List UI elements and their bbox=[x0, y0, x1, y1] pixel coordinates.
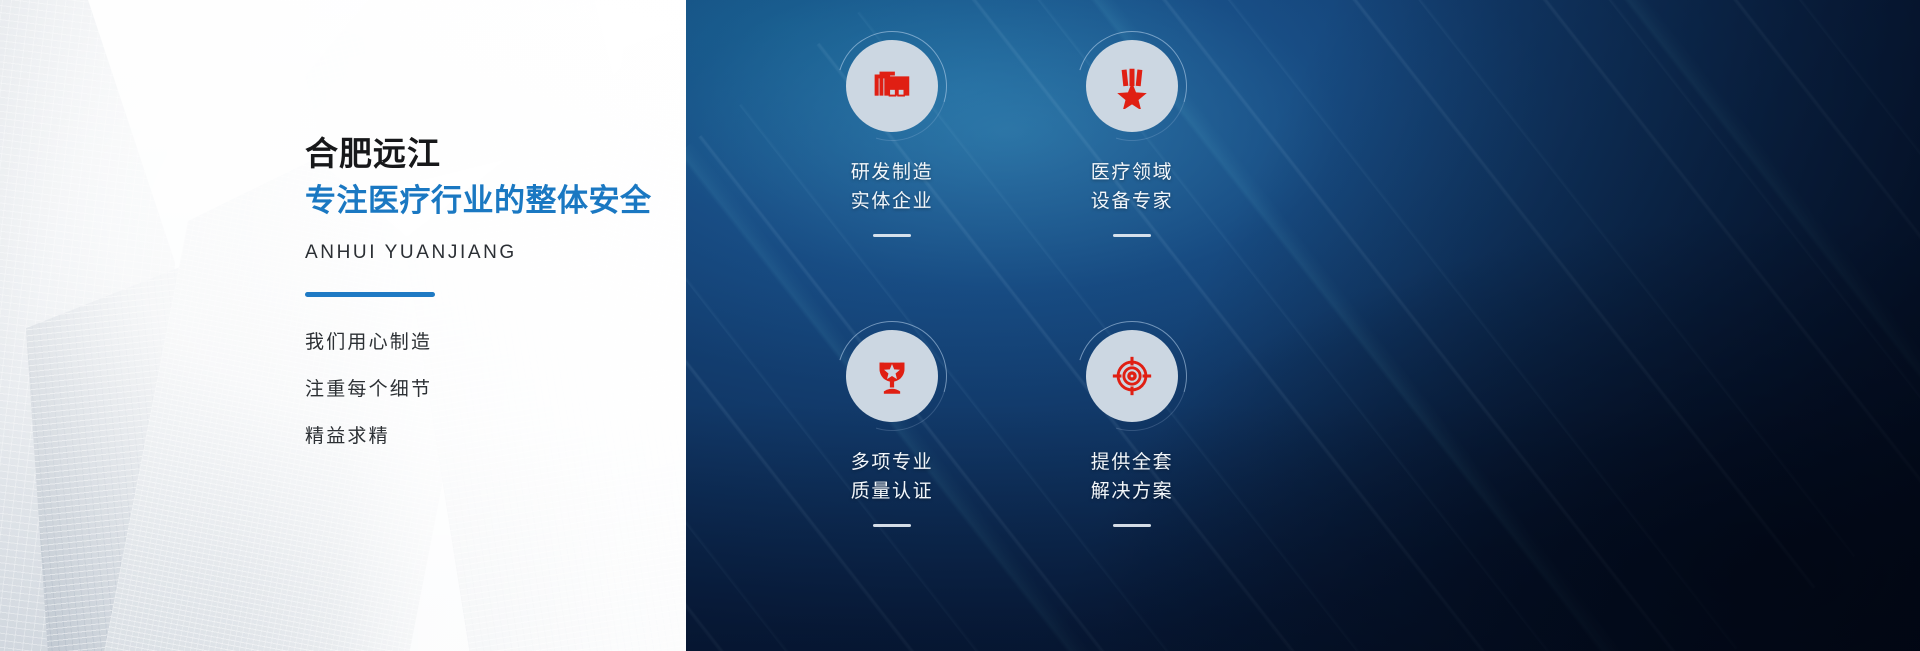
feature-item-full-solution[interactable]: 提供全套 解决方案 bbox=[1012, 320, 1252, 600]
feature-label-line1: 多项专业 bbox=[851, 448, 933, 477]
tagline-list: 我们用心制造 注重每个细节 精益求精 bbox=[305, 333, 685, 446]
factory-icon bbox=[869, 63, 915, 109]
feature-label-line2: 设备专家 bbox=[1091, 187, 1173, 216]
feature-grid: 研发制造 实体企业 bbox=[772, 40, 1252, 600]
feature-label: 多项专业 质量认证 bbox=[851, 448, 933, 507]
icon-badge bbox=[846, 40, 938, 132]
brand-pinyin: ANHUI YUANJIANG bbox=[305, 242, 685, 264]
trophy-icon bbox=[869, 353, 915, 399]
headline-block: 合肥远江 专注医疗行业的整体安全 ANHUI YUANJIANG 我们用心制造 … bbox=[305, 134, 685, 446]
feature-label-line1: 医疗领域 bbox=[1091, 158, 1173, 187]
icon-badge bbox=[846, 330, 938, 422]
right-panel: 研发制造 实体企业 bbox=[686, 0, 1920, 651]
promo-banner: 合肥远江 专注医疗行业的整体安全 ANHUI YUANJIANG 我们用心制造 … bbox=[0, 0, 1920, 651]
tagline-item: 精益求精 bbox=[305, 427, 685, 446]
feature-label: 提供全套 解决方案 bbox=[1091, 448, 1173, 507]
feature-underline-dash bbox=[873, 234, 911, 237]
medal-star-icon bbox=[1109, 63, 1155, 109]
feature-item-medical-equipment-expert[interactable]: 医疗领域 设备专家 bbox=[1012, 40, 1252, 320]
feature-label-line2: 质量认证 bbox=[851, 477, 933, 506]
feature-underline-dash bbox=[873, 524, 911, 527]
tagline-item: 我们用心制造 bbox=[305, 333, 685, 352]
feature-label: 医疗领域 设备专家 bbox=[1091, 158, 1173, 217]
feature-label-line1: 研发制造 bbox=[851, 158, 933, 187]
target-crosshair-icon bbox=[1109, 353, 1155, 399]
feature-label-line2: 解决方案 bbox=[1091, 477, 1173, 506]
feature-underline-dash bbox=[1113, 524, 1151, 527]
left-panel: 合肥远江 专注医疗行业的整体安全 ANHUI YUANJIANG 我们用心制造 … bbox=[0, 0, 686, 651]
feature-label: 研发制造 实体企业 bbox=[851, 158, 933, 217]
tagline-item: 注重每个细节 bbox=[305, 380, 685, 399]
feature-item-rd-manufacturing[interactable]: 研发制造 实体企业 bbox=[772, 40, 1012, 320]
icon-badge bbox=[1086, 330, 1178, 422]
icon-badge bbox=[1086, 40, 1178, 132]
blue-divider-bar bbox=[305, 292, 435, 297]
feature-label-line1: 提供全套 bbox=[1091, 448, 1173, 477]
feature-label-line2: 实体企业 bbox=[851, 187, 933, 216]
brand-subtitle: 专注医疗行业的整体安全 bbox=[305, 181, 685, 221]
feature-item-quality-certification[interactable]: 多项专业 质量认证 bbox=[772, 320, 1012, 600]
brand-title: 合肥远江 bbox=[305, 134, 685, 175]
feature-underline-dash bbox=[1113, 234, 1151, 237]
